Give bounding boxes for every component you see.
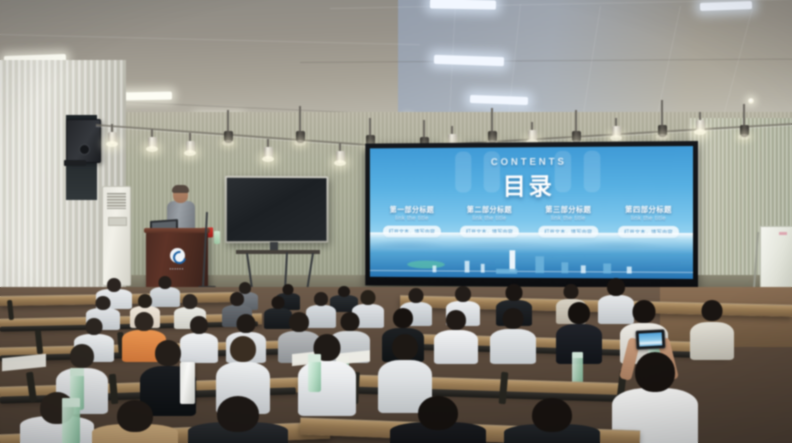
person-head <box>272 296 285 309</box>
camera-preview-screen <box>639 332 663 346</box>
whiteboard-marking <box>779 232 787 235</box>
water-bottle <box>214 231 220 244</box>
person-torso <box>434 330 478 364</box>
person-head <box>107 278 121 292</box>
person-head <box>230 292 244 306</box>
city-building <box>464 261 469 273</box>
person-head <box>503 308 524 329</box>
person-head <box>361 290 376 305</box>
city-road <box>370 270 693 273</box>
water-bottle <box>572 352 583 384</box>
presenter-hair <box>172 185 189 193</box>
podium-top-edge <box>144 228 210 233</box>
section-heading: 第二部分标题 <box>455 204 524 215</box>
person-head <box>96 296 111 310</box>
city-building <box>627 267 632 274</box>
person-head <box>418 396 458 430</box>
city-green-field <box>407 261 445 269</box>
speaker-cone <box>79 144 90 155</box>
whiteboard-easel-icon <box>760 226 792 290</box>
city-building <box>604 264 612 274</box>
person-head <box>70 344 94 368</box>
person-head <box>117 400 153 432</box>
panel-light <box>430 0 496 10</box>
audience-member <box>490 308 536 360</box>
person-head <box>338 286 350 297</box>
monitor-cart-top <box>236 250 320 254</box>
water-bottle <box>62 398 80 443</box>
city-building <box>535 256 544 273</box>
ceiling-seam <box>0 34 420 45</box>
section-subheading: link the title <box>533 216 603 222</box>
audience-member <box>390 396 486 443</box>
person-head <box>341 312 360 331</box>
person-head <box>283 284 294 295</box>
person-torso-striped <box>490 329 536 364</box>
audience-member <box>504 398 600 443</box>
audience-member <box>690 300 734 356</box>
city-block <box>496 269 517 274</box>
person-head <box>393 308 413 328</box>
person-head <box>237 314 256 333</box>
person-torso <box>298 361 356 416</box>
slide-title-chinese: 目录 <box>370 166 693 201</box>
led-presentation-screen: CONTENTS 目录 第一部分标题 link the title 打开文本，填… <box>365 141 698 288</box>
person-head <box>138 294 152 308</box>
conference-hall-photo: CONTENTS 目录 第一部分标题 link the title 打开文本，填… <box>0 0 792 443</box>
person-head <box>289 312 309 332</box>
section-subheading: link the title <box>455 216 524 222</box>
person-head <box>568 302 590 324</box>
city-building <box>581 265 586 273</box>
section-heading: 第一部分标题 <box>378 204 446 215</box>
audience-member <box>188 396 288 443</box>
audience-member <box>298 334 356 412</box>
audience-member <box>434 310 478 360</box>
person-head <box>392 334 418 360</box>
person-head <box>506 284 523 301</box>
person-head <box>702 300 723 321</box>
ac-control-panel <box>108 217 127 226</box>
person-head <box>217 396 259 432</box>
person-head <box>155 340 181 366</box>
person-head <box>455 286 471 302</box>
city-building <box>561 262 568 273</box>
person-head <box>135 312 154 331</box>
person-head <box>86 318 103 335</box>
person-head <box>607 278 625 296</box>
city-building <box>433 266 437 273</box>
person-head-ponytail <box>230 336 256 362</box>
camera-phone-icon <box>636 329 666 349</box>
person-head <box>314 292 328 306</box>
person-head <box>183 294 198 309</box>
podium-nameplate: ▪▪▪▪▪▪ <box>146 266 208 271</box>
section-heading: 第四部分标题 <box>613 204 684 215</box>
speaker-mount-bracket <box>64 160 86 166</box>
person-head <box>532 398 572 432</box>
person-head <box>190 316 208 334</box>
institution-emblem-icon <box>170 248 185 263</box>
city-hills <box>370 234 693 249</box>
section-subheading: link the title <box>613 216 684 222</box>
audience-member <box>92 400 178 443</box>
person-head <box>409 288 424 303</box>
person-head <box>635 352 675 392</box>
person-head <box>564 284 579 299</box>
audience-member <box>20 392 94 443</box>
person-head <box>446 310 466 330</box>
ac-grille <box>107 193 126 209</box>
air-conditioner-icon <box>102 186 131 286</box>
city-building <box>480 264 484 273</box>
slide-cityscape-image <box>370 232 693 279</box>
display-monitor-icon <box>225 176 329 243</box>
panel-light <box>118 92 172 101</box>
section-subheading: link the title <box>378 216 446 222</box>
water-bottle <box>308 354 321 392</box>
downlight <box>748 98 754 104</box>
section-heading: 第三部分标题 <box>533 204 603 215</box>
monitor-screen <box>227 178 327 241</box>
person-head <box>633 300 656 323</box>
slide-surface: CONTENTS 目录 第一部分标题 link the title 打开文本，填… <box>370 146 693 279</box>
person-head <box>159 276 172 289</box>
